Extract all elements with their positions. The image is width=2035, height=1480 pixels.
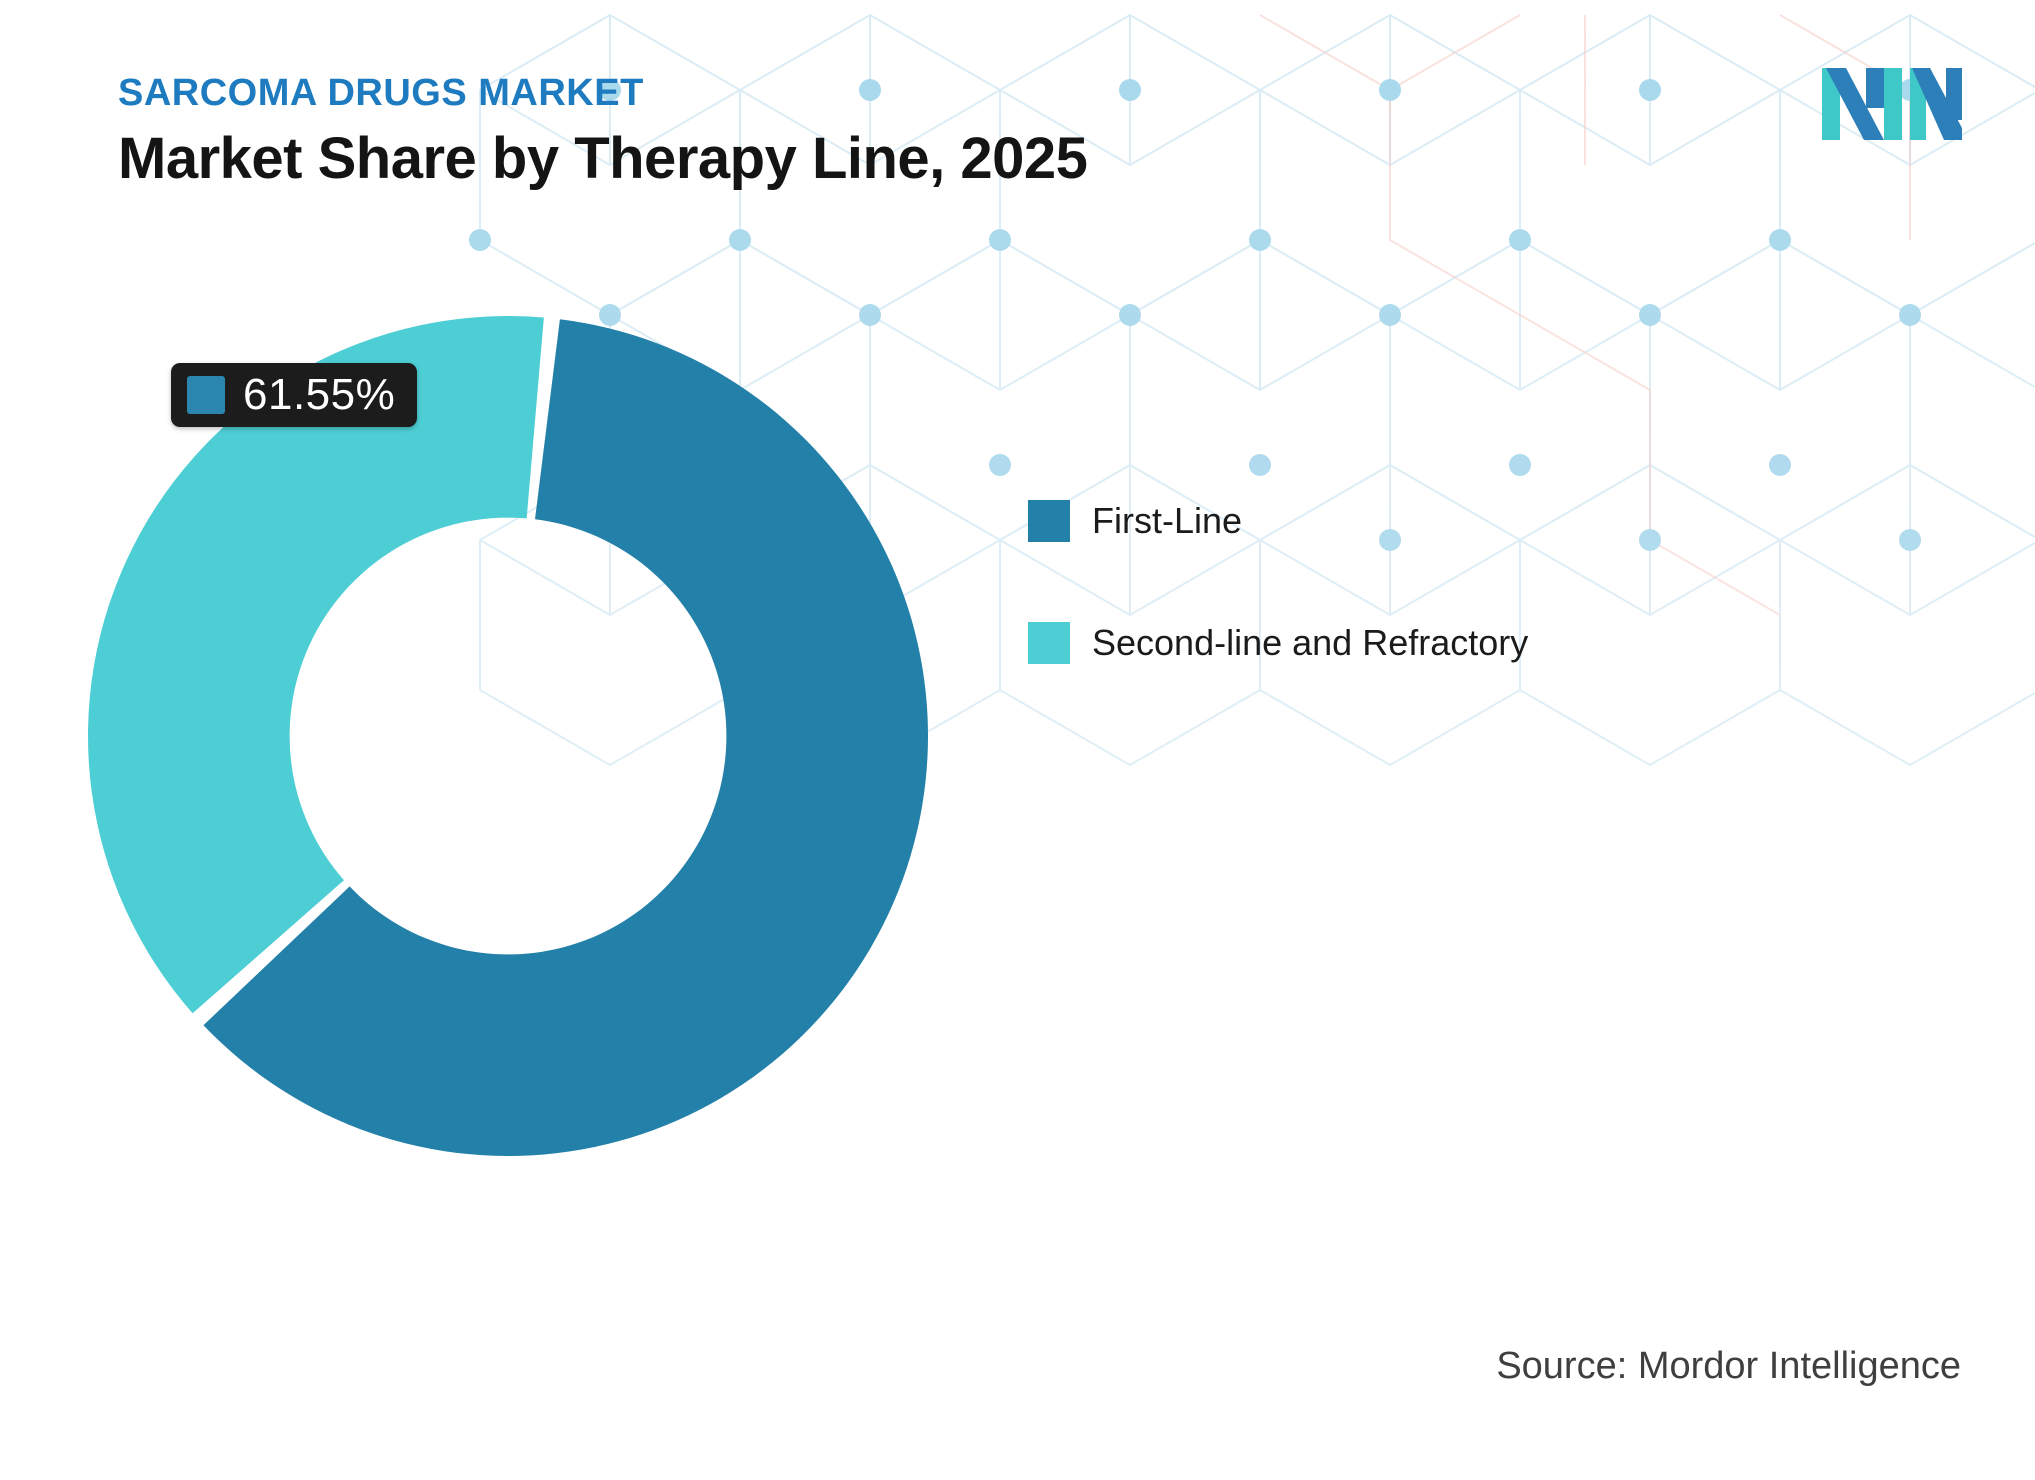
legend-item-first-line[interactable]: First-Line <box>1028 500 1528 542</box>
legend-label-first-line: First-Line <box>1092 503 1242 539</box>
data-label-swatch <box>187 376 225 414</box>
legend-swatch-first-line <box>1028 500 1070 542</box>
page-title: Market Share by Therapy Line, 2025 <box>118 124 1318 194</box>
eyebrow-title: SARCOMA DRUGS MARKET <box>118 72 1318 116</box>
data-label-value: 61.55% <box>243 373 395 417</box>
source-attribution: Source: Mordor Intelligence <box>1496 1345 1961 1388</box>
donut-slices <box>88 316 928 1156</box>
legend-swatch-second-line-and-refractory <box>1028 622 1070 664</box>
data-label-tooltip: 61.55% <box>171 363 417 427</box>
legend-item-second-line-and-refractory[interactable]: Second-line and Refractory <box>1028 622 1528 664</box>
donut-chart <box>88 316 928 1156</box>
legend-label-second-line-and-refractory: Second-line and Refractory <box>1092 625 1528 661</box>
chart-legend: First-Line Second-line and Refractory <box>1028 500 1528 664</box>
mordor-intelligence-logo <box>1822 68 1962 140</box>
header: SARCOMA DRUGS MARKET Market Share by The… <box>118 72 1318 193</box>
donut-chart-svg <box>88 316 928 1156</box>
infographic-canvas: SARCOMA DRUGS MARKET Market Share by The… <box>0 0 2035 1480</box>
